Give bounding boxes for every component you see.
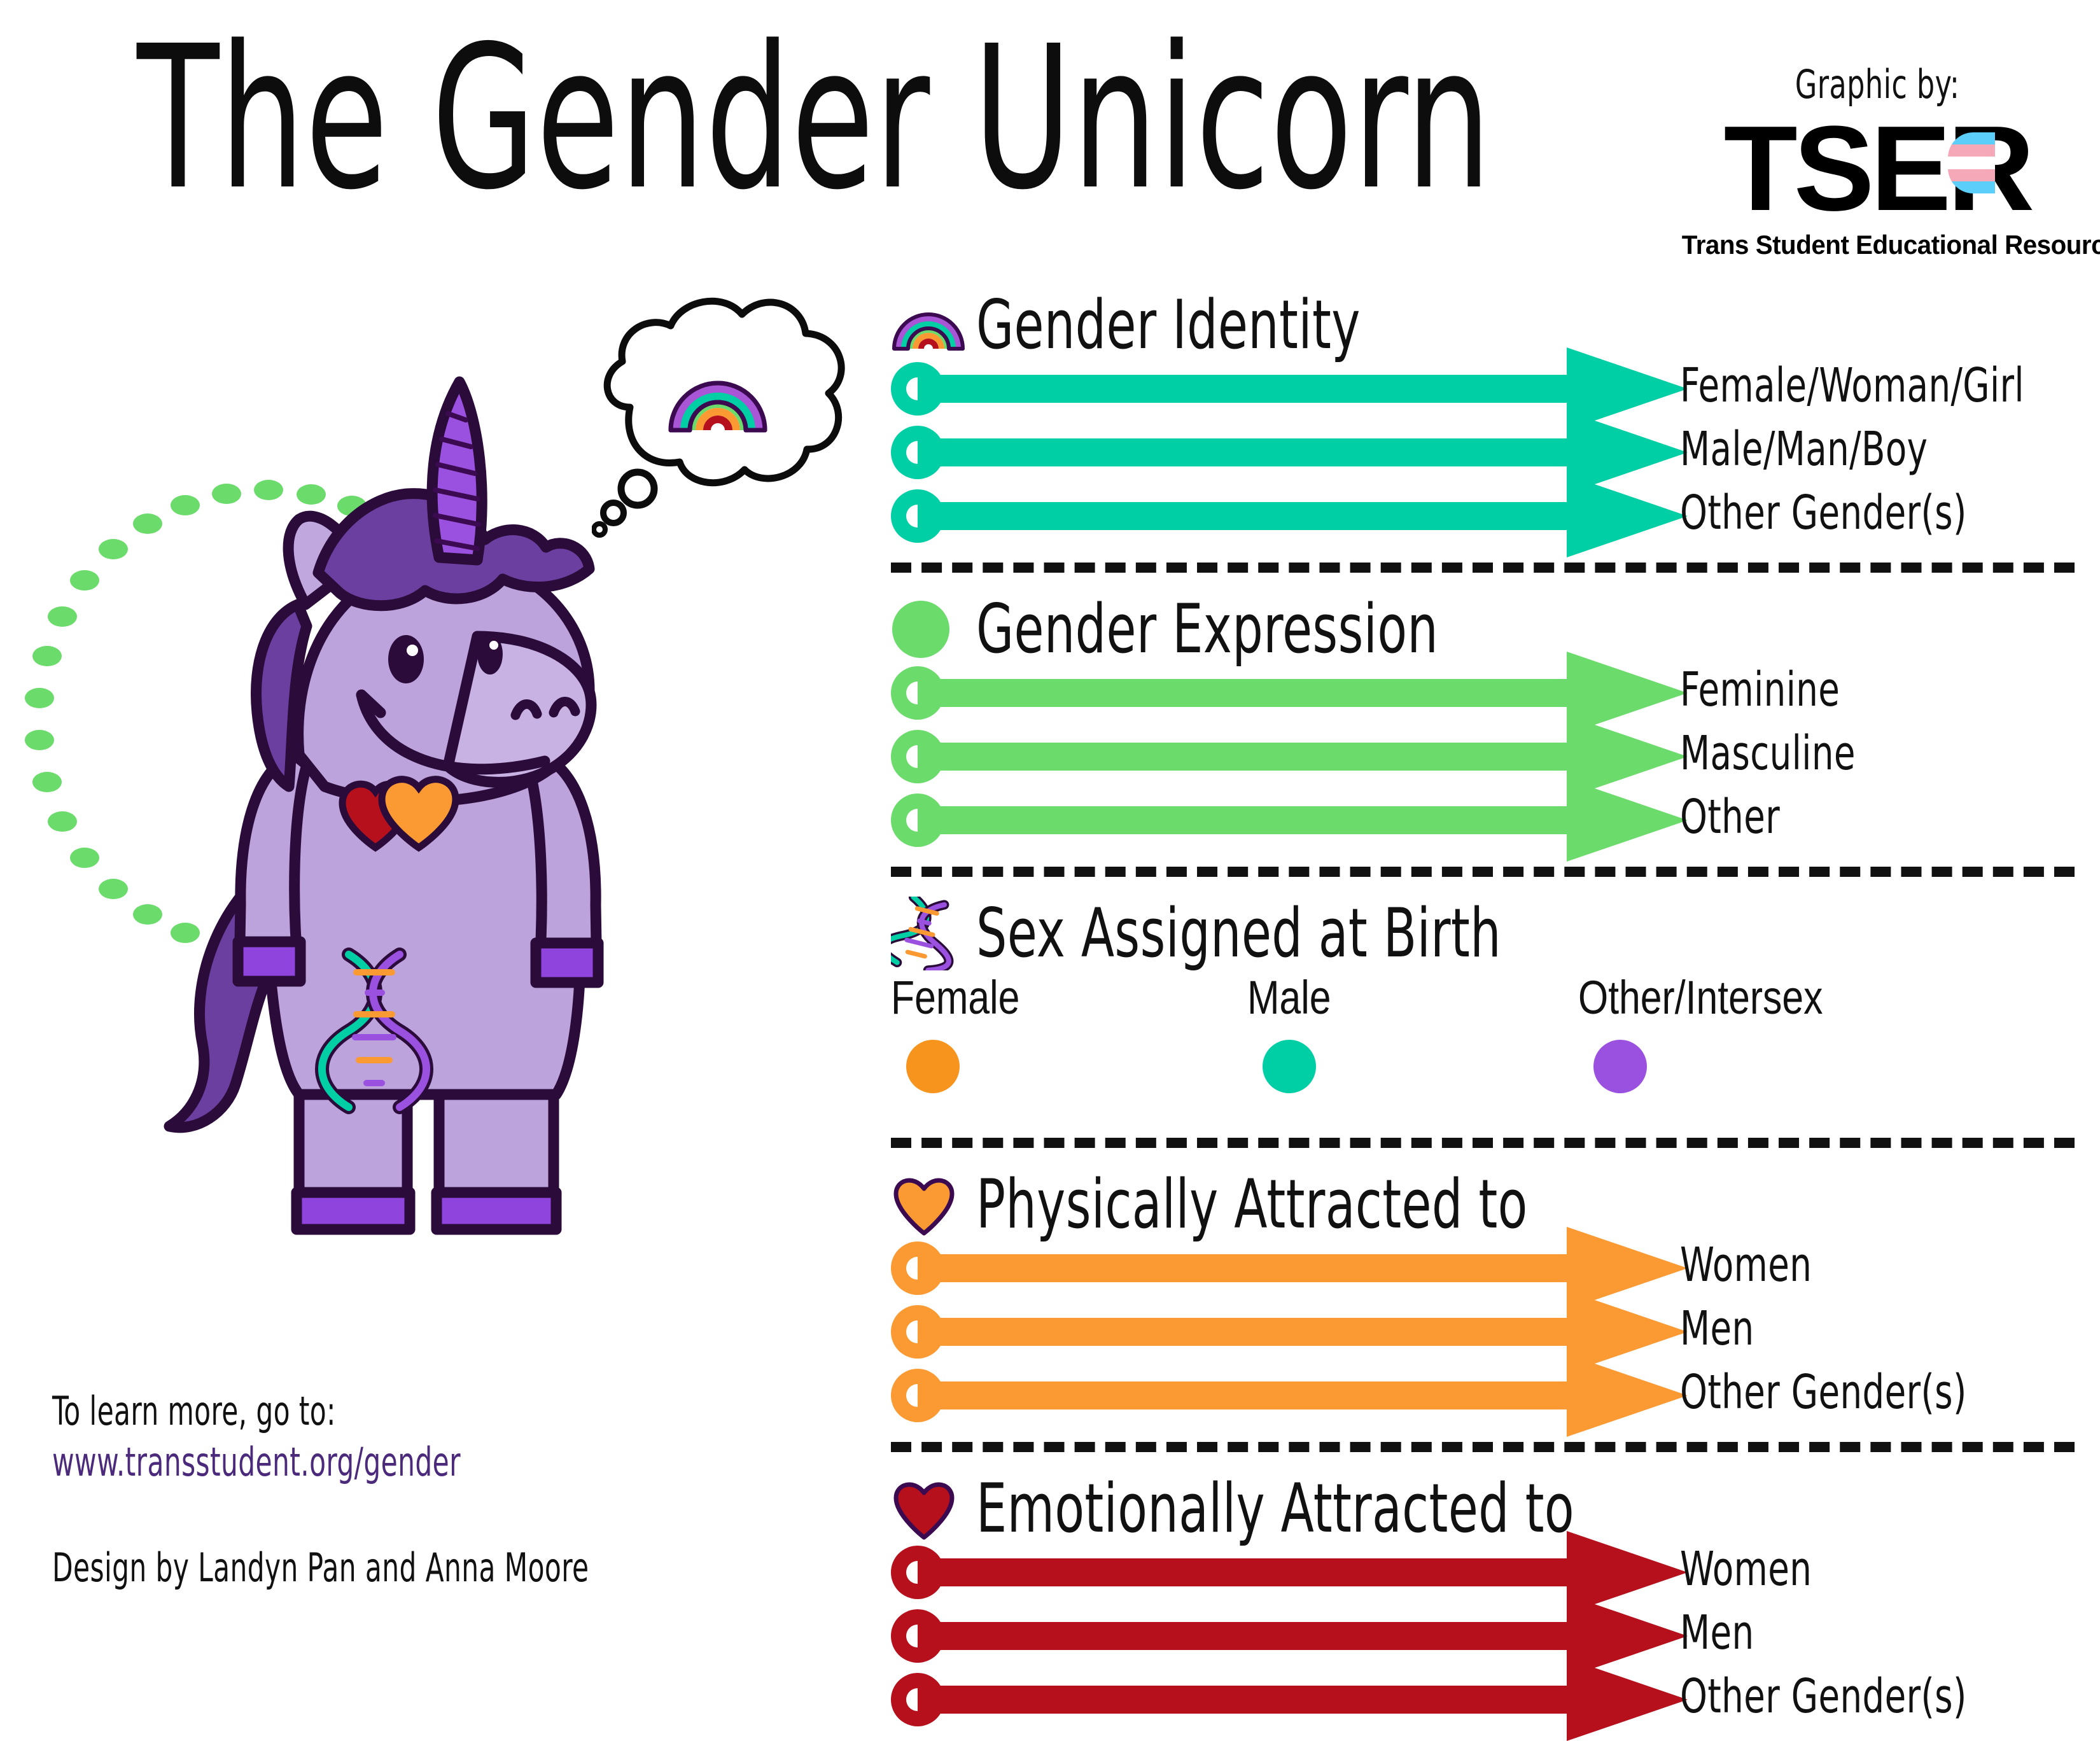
spectrum-bar: [918, 806, 1573, 834]
spectrum-label: Masculine: [1680, 727, 1856, 780]
spectrum-arrow[interactable]: [891, 364, 1642, 414]
section-icon: [891, 1476, 967, 1542]
spectrum-bar: [918, 1622, 1573, 1650]
spectrum-rows: FeminineMasculineOther: [891, 668, 2075, 845]
page-title-text: The Gender Unicorn: [137, 14, 1264, 224]
arrow-head-icon: [1567, 1658, 1688, 1741]
arrow-head-icon: [1567, 779, 1688, 862]
section-divider: [891, 1442, 2075, 1452]
arc-dot: [70, 570, 99, 591]
spectrum-arrow[interactable]: [891, 795, 1642, 845]
section-emotionally-attracted-to: Emotionally Attracted toWomenMenOther Ge…: [891, 1470, 2075, 1724]
spectrum-row[interactable]: Male/Man/Boy: [891, 428, 2075, 477]
arc-dot: [48, 811, 77, 832]
unicorn-eye-left: [388, 635, 424, 683]
arc-dot: [25, 688, 54, 708]
spectrum-arrow[interactable]: [891, 668, 1642, 718]
unicorn-cuff-left: [238, 942, 300, 981]
spectrum-label: Other: [1680, 790, 1780, 844]
section-title: Sex Assigned at Birth: [976, 898, 1501, 968]
section-heading: Emotionally Attracted to: [891, 1470, 2075, 1548]
spectrum-arrow[interactable]: [891, 732, 1642, 781]
spectrum-arrow[interactable]: [891, 1611, 1642, 1661]
spectrum-label: Women: [1680, 1542, 1812, 1596]
sab-option-label: Male: [1247, 972, 1331, 1023]
spectrum-row[interactable]: Men: [891, 1611, 2075, 1661]
tser-full-name: Trans Student Educational Resources: [1682, 230, 2073, 260]
green-circle-icon: [891, 599, 951, 659]
website-link[interactable]: www.transstudent.org/gender: [52, 1436, 584, 1489]
orange-heart-icon: [891, 1172, 957, 1237]
section-heading: Gender Identity: [891, 286, 2075, 364]
section-heading: Gender Expression: [891, 591, 2075, 668]
sab-option-label: Other/Intersex: [1578, 972, 1823, 1023]
spectrum-label: Female/Woman/Girl: [1680, 359, 2024, 412]
spectrum-bar: [918, 438, 1573, 466]
spectrum-bar: [918, 1318, 1573, 1346]
spectrum-row[interactable]: Other Gender(s): [891, 1675, 2075, 1724]
trans-flag-icon: [1948, 132, 1995, 193]
arc-dot: [25, 730, 54, 750]
section-title: Emotionally Attracted to: [976, 1474, 1574, 1544]
section-gender-expression: Gender ExpressionFeminineMasculineOther: [891, 591, 2075, 845]
section-sex-assigned-at-birth: Sex Assigned at BirthFemaleMaleOther/Int…: [891, 895, 2075, 1116]
arc-dot: [70, 848, 99, 868]
rainbow-icon: [891, 298, 966, 353]
section-divider: [891, 867, 2075, 877]
spectrum-label: Male/Man/Boy: [1680, 423, 1928, 476]
spectrum-bar: [918, 679, 1573, 707]
section-heading: Physically Attracted to: [891, 1166, 2075, 1243]
unicorn-character: [108, 305, 719, 1298]
sab-dot-row: [891, 1040, 2075, 1116]
section-icon: [891, 900, 967, 967]
spectrum-label: Other Gender(s): [1680, 1366, 1967, 1419]
spectrum-bar: [918, 743, 1573, 771]
sab-option-dot[interactable]: [906, 1040, 960, 1093]
sab-option-dot[interactable]: [1593, 1040, 1647, 1093]
graphic-by-label: Graphic by:: [1714, 64, 2040, 106]
unicorn-sock-left: [297, 1192, 410, 1229]
unicorn-cuff-right: [536, 943, 598, 982]
section-divider: [891, 1138, 2075, 1148]
sab-label-row: FemaleMaleOther/Intersex: [891, 972, 2075, 1033]
spectrum-bar: [918, 375, 1573, 403]
spectrum-label: Women: [1680, 1238, 1812, 1292]
unicorn-eye-right: [477, 634, 503, 675]
spectrum-bar: [918, 1254, 1573, 1282]
spectrum-rows: Female/Woman/GirlMale/Man/BoyOther Gende…: [891, 364, 2075, 541]
section-heading: Sex Assigned at Birth: [891, 895, 2075, 972]
spectrum-label: Men: [1680, 1302, 1754, 1355]
sab-option-dot[interactable]: [1263, 1040, 1316, 1093]
spectrum-arrow[interactable]: [891, 428, 1642, 477]
footer-learn-more: To learn more, go to: www.transstudent.o…: [52, 1387, 752, 1489]
arc-dot: [32, 772, 62, 792]
spectrum-label: Other Gender(s): [1680, 486, 1967, 540]
section-icon: [891, 596, 967, 662]
spectrum-bar: [918, 1381, 1573, 1409]
spectrum-label: Men: [1680, 1606, 1754, 1660]
spectrum-row[interactable]: Masculine: [891, 732, 2075, 781]
arc-dot: [48, 606, 77, 627]
section-title: Gender Expression: [976, 594, 1438, 664]
section-divider: [891, 563, 2075, 573]
arc-dot: [32, 646, 62, 666]
spectrum-row[interactable]: Other Gender(s): [891, 491, 2075, 541]
section-physically-attracted-to: Physically Attracted toWomenMenOther Gen…: [891, 1166, 2075, 1420]
spectrum-row[interactable]: Men: [891, 1307, 2075, 1357]
spectrum-row[interactable]: Other Gender(s): [891, 1371, 2075, 1420]
spectrum-arrow[interactable]: [891, 1371, 1642, 1420]
spectrum-row[interactable]: Female/Woman/Girl: [891, 364, 2075, 414]
spectrum-row[interactable]: Other: [891, 795, 2075, 845]
spectrum-label: Feminine: [1680, 663, 1840, 717]
unicorn-sock-right: [437, 1192, 556, 1229]
spectrum-arrow[interactable]: [891, 1307, 1642, 1357]
spectrum-label: Other Gender(s): [1680, 1670, 1967, 1723]
arrow-head-icon: [1567, 1354, 1688, 1437]
spectrum-bar: [918, 1686, 1573, 1714]
spectrum-bar: [918, 502, 1573, 530]
spectrum-arrow[interactable]: [891, 491, 1642, 541]
design-credit: Design by Landyn Pan and Anna Moore: [52, 1546, 589, 1590]
sab-option-label: Female: [891, 972, 1019, 1023]
section-icon: [891, 292, 967, 358]
spectrum-panel: Gender IdentityFemale/Woman/GirlMale/Man…: [891, 286, 2075, 1724]
learn-more-label: To learn more, go to:: [52, 1387, 584, 1436]
spectrum-arrow[interactable]: [891, 1243, 1642, 1293]
spectrum-arrow[interactable]: [891, 1548, 1642, 1597]
section-icon: [891, 1171, 967, 1238]
page-title: The Gender Unicorn: [137, 14, 1620, 243]
spectrum-rows: WomenMenOther Gender(s): [891, 1243, 2075, 1420]
tser-acronym: TSER: [1724, 108, 2031, 229]
spectrum-bar: [918, 1558, 1573, 1586]
spectrum-row[interactable]: Women: [891, 1548, 2075, 1597]
dna-icon: [891, 897, 955, 970]
section-title: Physically Attracted to: [976, 1170, 1528, 1240]
section-gender-identity: Gender IdentityFemale/Woman/GirlMale/Man…: [891, 286, 2075, 541]
spectrum-row[interactable]: Feminine: [891, 668, 2075, 718]
section-title: Gender Identity: [976, 290, 1361, 360]
red-heart-icon: [891, 1476, 957, 1541]
unicorn-illustration: [0, 274, 865, 1355]
spectrum-row[interactable]: Women: [891, 1243, 2075, 1293]
tser-logo: Graphic by: TSER Trans Student Education…: [1674, 64, 2081, 261]
spectrum-rows: WomenMenOther Gender(s): [891, 1548, 2075, 1724]
spectrum-arrow[interactable]: [891, 1675, 1642, 1724]
arrow-head-icon: [1567, 475, 1688, 557]
